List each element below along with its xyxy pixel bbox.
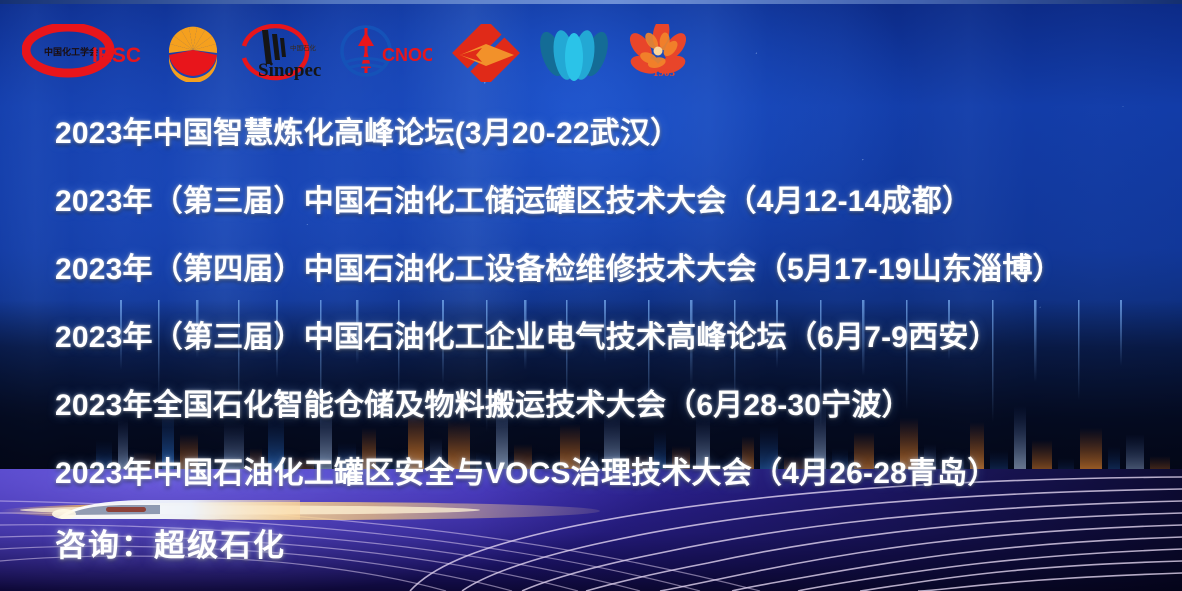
- ciesc-logo-cn-text: 中国化工学会: [44, 46, 99, 57]
- sinochem-logo-icon: [446, 24, 526, 82]
- conference-line[interactable]: 2023年全国石化智能仓储及物料搬运技术大会（6月28-30宁波）: [0, 368, 1182, 436]
- logo-sinochem: [446, 22, 526, 84]
- ciesc-logo-icon: 中国化工学会 IESC: [22, 24, 150, 82]
- cnooc-logo-icon: CNOOC: [336, 24, 432, 82]
- sinopec-logo-icon: 中国石化 Sinopec: [236, 24, 322, 82]
- logo-ciesc: 中国化工学会 IESC: [22, 22, 150, 84]
- conference-line-list: 2023年中国智慧炼化高峰论坛(3月20-22武汉） 2023年（第三届）中国石…: [0, 96, 1182, 504]
- chemchina-logo-icon: [540, 24, 608, 82]
- conference-poster: 中国化工学会 IESC: [0, 0, 1182, 591]
- logo-yanchang-petroleum: 1905: [622, 22, 694, 84]
- contact-info: 咨询：超级石化: [55, 520, 286, 565]
- ciesc-logo-abbr: IESC: [92, 44, 141, 67]
- logo-sinopec: 中国石化 Sinopec: [236, 22, 322, 84]
- petrochina-logo-icon: [164, 24, 222, 82]
- cnooc-logo-abbr: CNOOC: [382, 45, 432, 65]
- logo-cnooc: CNOOC: [336, 22, 432, 84]
- yanchang-logo-year: 1905: [653, 67, 676, 79]
- sponsor-logo-row: 中国化工学会 IESC: [22, 22, 694, 84]
- yanchang-petroleum-logo-icon: 1905: [622, 24, 694, 82]
- conference-line[interactable]: 2023年（第三届）中国石油化工企业电气技术高峰论坛（6月7-9西安）: [0, 300, 1182, 368]
- conference-line[interactable]: 2023年中国石油化工罐区安全与VOCS治理技术大会（4月26-28青岛）: [0, 436, 1182, 504]
- conference-line[interactable]: 2023年（第三届）中国石油化工储运罐区技术大会（4月12-14成都）: [0, 164, 1182, 232]
- conference-line[interactable]: 2023年中国智慧炼化高峰论坛(3月20-22武汉）: [0, 96, 1182, 164]
- logo-chemchina: [540, 22, 608, 84]
- sinopec-logo-abbr: Sinopec: [258, 60, 321, 81]
- sinopec-logo-cn-text: 中国石化: [290, 43, 317, 52]
- logo-petrochina: [164, 22, 222, 84]
- conference-line[interactable]: 2023年（第四届）中国石油化工设备检维修技术大会（5月17-19山东淄博）: [0, 232, 1182, 300]
- top-edge-highlight: [0, 0, 1182, 4]
